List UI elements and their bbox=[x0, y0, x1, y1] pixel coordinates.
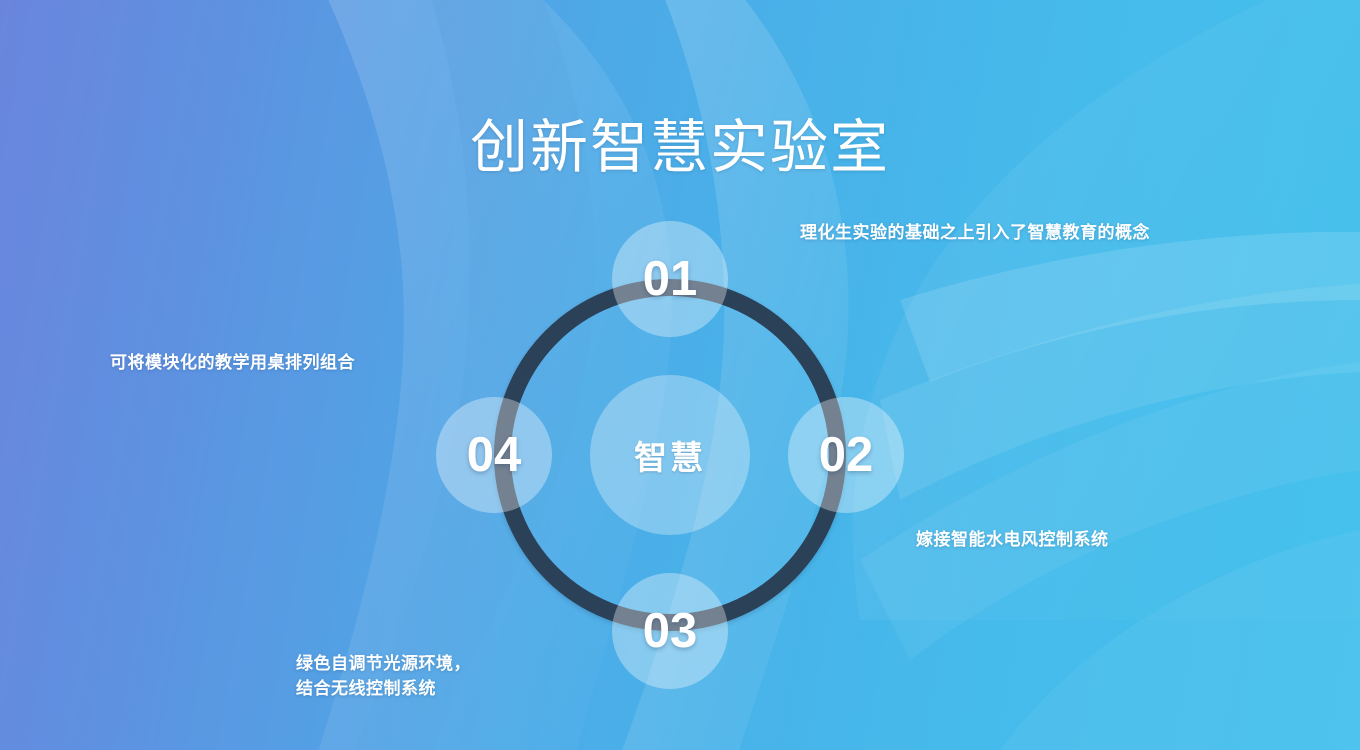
diagram-hub: 智慧 bbox=[590, 375, 750, 535]
cycle-node-04[interactable]: 04 bbox=[436, 397, 552, 513]
caption-02: 嫁接智能水电风控制系统 bbox=[916, 528, 1316, 553]
cycle-node-03[interactable]: 03 bbox=[612, 573, 728, 689]
slide-title: 创新智慧实验室 bbox=[0, 117, 1360, 180]
caption-01: 理化生实验的基础之上引入了智慧教育的概念 bbox=[800, 221, 1240, 246]
caption-04: 可将模块化的教学用桌排列组合 bbox=[110, 351, 510, 376]
hub-label: 智慧 bbox=[634, 431, 706, 479]
cycle-diagram: 智慧 01 02 03 04 bbox=[494, 279, 846, 631]
cycle-node-number: 04 bbox=[467, 431, 522, 480]
cycle-node-number: 02 bbox=[819, 431, 874, 480]
cycle-node-number: 01 bbox=[643, 255, 698, 304]
cycle-node-02[interactable]: 02 bbox=[788, 397, 904, 513]
cycle-node-number: 03 bbox=[643, 607, 698, 656]
presentation-slide: 创新智慧实验室 智慧 01 02 03 04 理化生实验的基础之上引入了智慧教育… bbox=[0, 0, 1360, 750]
cycle-node-01[interactable]: 01 bbox=[612, 221, 728, 337]
caption-03: 绿色自调节光源环境，结合无线控制系统 bbox=[296, 652, 626, 701]
